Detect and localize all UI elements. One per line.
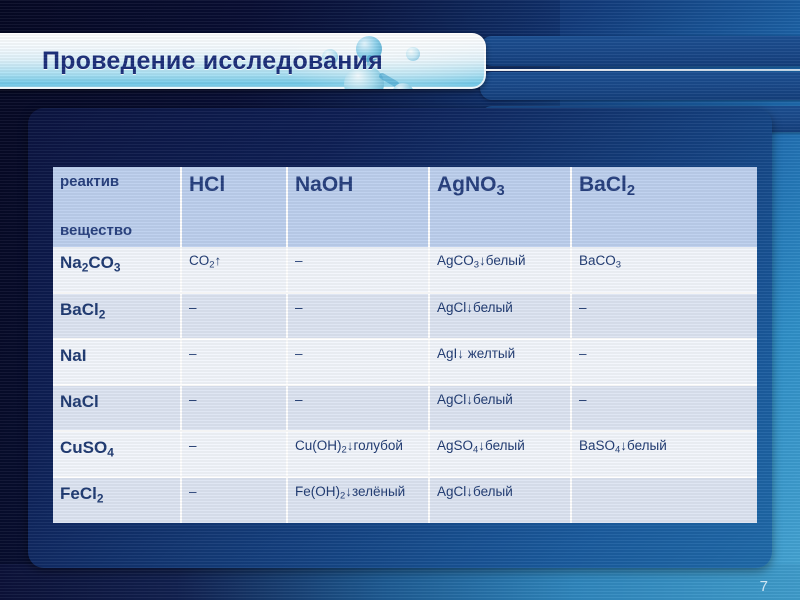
column-header-label: BaCl2 xyxy=(579,173,750,203)
reaction-result-cell: – xyxy=(571,293,757,339)
reaction-result-cell: – xyxy=(571,339,757,385)
column-header-hcl: HCl xyxy=(181,167,287,247)
reaction-result-cell: AgCl↓белый xyxy=(429,293,571,339)
column-header-label: HCl xyxy=(189,173,279,197)
presentation-slide: Проведение исследования реактив вещество… xyxy=(0,0,800,600)
column-header-label: AgNO3 xyxy=(437,173,563,203)
row-substance-label: NaCl xyxy=(53,385,181,431)
table-row: Na2CO3CO2↑–AgCO3↓белыйBaCO3 xyxy=(53,247,757,293)
row-substance-label: BaCl2 xyxy=(53,293,181,339)
reaction-result-cell: AgCO3↓белый xyxy=(429,247,571,293)
reaction-result-cell: BaCO3 xyxy=(571,247,757,293)
reaction-result-cell: – xyxy=(287,385,429,431)
column-header-bacl2: BaCl2 xyxy=(571,167,757,247)
column-header-agno3: AgNO3 xyxy=(429,167,571,247)
reactions-table: реактив вещество HCl NaOH AgNO3 BaCl2 Na… xyxy=(53,167,757,523)
reaction-result-cell: – xyxy=(181,477,287,523)
table-corner-cell: реактив вещество xyxy=(53,167,181,247)
title-divider-rule xyxy=(486,69,800,71)
reaction-result-cell: – xyxy=(181,293,287,339)
page-number: 7 xyxy=(760,578,768,595)
reaction-result-cell: – xyxy=(571,385,757,431)
reaction-result-cell: – xyxy=(287,293,429,339)
table-header-row: реактив вещество HCl NaOH AgNO3 BaCl2 xyxy=(53,167,757,247)
table-row: NaI––AgI↓ желтый– xyxy=(53,339,757,385)
reaction-result-cell: – xyxy=(287,339,429,385)
reaction-result-cell: CO2↑ xyxy=(181,247,287,293)
table-row: NaCl––AgCl↓белый– xyxy=(53,385,757,431)
row-substance-label: Na2CO3 xyxy=(53,247,181,293)
reaction-result-cell: – xyxy=(181,431,287,477)
column-header-naoh: NaOH xyxy=(287,167,429,247)
row-substance-label: FeCl2 xyxy=(53,477,181,523)
column-header-label: NaOH xyxy=(295,173,421,197)
reaction-result-cell: AgI↓ желтый xyxy=(429,339,571,385)
decor-strip-mid xyxy=(480,72,800,100)
reaction-result-cell: – xyxy=(181,339,287,385)
decor-strip-top xyxy=(480,36,800,66)
table-row: BaCl2––AgCl↓белый– xyxy=(53,293,757,339)
reaction-result-cell: AgSO4↓белый xyxy=(429,431,571,477)
reaction-result-cell: AgCl↓белый xyxy=(429,385,571,431)
table-head: реактив вещество HCl NaOH AgNO3 BaCl2 xyxy=(53,167,757,247)
reaction-result-cell: Fe(OH)2↓зелёный xyxy=(287,477,429,523)
corner-reagent-label: реактив xyxy=(60,173,119,190)
reaction-result-cell: AgCl↓белый xyxy=(429,477,571,523)
bottom-band xyxy=(0,564,800,600)
table-row: FeCl2–Fe(OH)2↓зелёныйAgCl↓белый xyxy=(53,477,757,523)
reaction-result-cell xyxy=(571,477,757,523)
page-title: Проведение исследования xyxy=(42,38,482,84)
corner-substance-label: вещество xyxy=(60,222,132,239)
reaction-result-cell: – xyxy=(181,385,287,431)
reaction-result-cell: BaSO4↓белый xyxy=(571,431,757,477)
reaction-result-cell: – xyxy=(287,247,429,293)
row-substance-label: CuSO4 xyxy=(53,431,181,477)
table-row: CuSO4–Cu(OH)2↓голубойAgSO4↓белыйBaSO4↓бе… xyxy=(53,431,757,477)
row-substance-label: NaI xyxy=(53,339,181,385)
table-body: Na2CO3CO2↑–AgCO3↓белыйBaCO3BaCl2––AgCl↓б… xyxy=(53,247,757,523)
reaction-result-cell: Cu(OH)2↓голубой xyxy=(287,431,429,477)
